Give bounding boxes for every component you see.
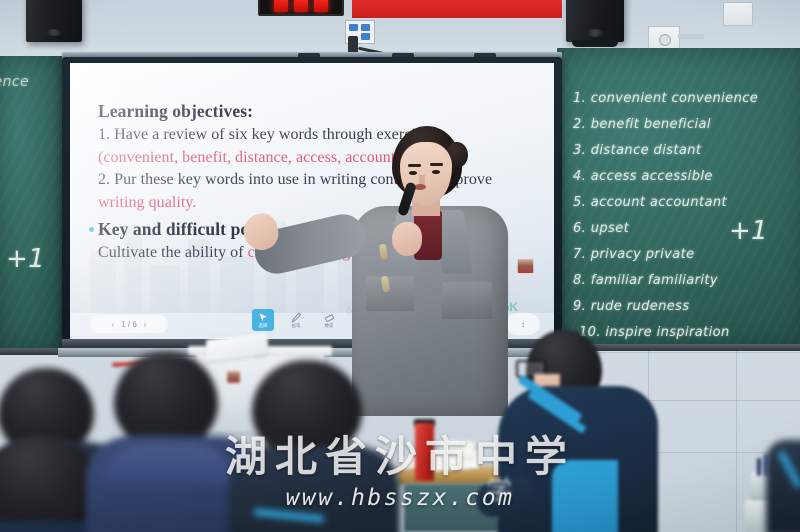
- student-head: [0, 436, 100, 532]
- speaker-cone: [46, 29, 62, 36]
- student-head: [114, 352, 218, 448]
- student-hood: [104, 444, 234, 484]
- chalk-line: 9. rude rudeness: [573, 300, 690, 313]
- socket-port[interactable]: [349, 24, 358, 31]
- student-center: [246, 360, 382, 532]
- teacher-eyebrow: [408, 164, 421, 167]
- teacher-eye: [409, 171, 417, 175]
- teacher-mic-hand: [392, 222, 422, 256]
- wall-tile-line: [736, 348, 737, 532]
- control-knob[interactable]: [659, 34, 671, 46]
- blackboard-left: nience ~ t +1 n: [0, 56, 62, 352]
- student-center-left: [96, 352, 246, 532]
- chalk-line: 4. access accessible: [573, 170, 713, 183]
- toolbar-label: 选择: [259, 324, 268, 329]
- chalk-line: 2. benefit beneficial: [573, 118, 711, 131]
- teacher-coat-pocket: [442, 282, 492, 319]
- wall-speaker-left: [26, 0, 82, 42]
- slide-page-nav[interactable]: ‹ 1 / 6 ›: [90, 315, 168, 333]
- chalk-line: 7. privacy private: [573, 248, 695, 261]
- blackboard-frame-left: [0, 348, 62, 355]
- wall-speaker-right: [566, 0, 624, 42]
- socket-port[interactable]: [361, 33, 370, 40]
- teacher-eye: [432, 170, 440, 174]
- teacher-eyebrow: [430, 163, 443, 166]
- classroom-led-clock: [258, 0, 344, 16]
- speaker-mount: [572, 40, 618, 47]
- teacher-coat-pocket: [366, 276, 414, 311]
- chalk-line: nience: [0, 74, 29, 90]
- chalk-mark-plus: +1: [729, 216, 768, 246]
- pen: [757, 458, 761, 476]
- chalk-mark: ~: [0, 124, 1, 142]
- socket-port[interactable]: [361, 24, 370, 31]
- chalk-mark-plus: +1: [6, 244, 45, 274]
- slide-heading-1: Learning objectives:: [98, 99, 548, 124]
- led-segment: [274, 0, 288, 12]
- wall-control-box-far-right[interactable]: [723, 2, 753, 26]
- red-thermos: [415, 423, 434, 481]
- classroom-photo: nience ~ t +1 n 1. convenient convenienc…: [0, 0, 800, 532]
- slide-speaker-thumbnail: [517, 259, 534, 274]
- chalk-line: 3. distance distant: [573, 144, 701, 157]
- led-segment: [314, 0, 328, 12]
- uniform-cyan-panel: [552, 460, 618, 532]
- chalk-line: 1. convenient convenience: [573, 92, 758, 105]
- next-page-icon[interactable]: ›: [144, 320, 147, 329]
- prev-page-icon[interactable]: ‹: [112, 320, 115, 329]
- chalk-line: 5. account accountant: [573, 196, 727, 209]
- wall-conduit: [678, 34, 704, 39]
- student-far-right: [766, 440, 800, 532]
- student-right-glasses: 学: [500, 330, 690, 532]
- led-segment: [294, 0, 308, 12]
- speaker-cone: [586, 29, 604, 37]
- bullet-icon: [89, 227, 94, 232]
- blackboard-right: 1. convenient convenience 2. benefit ben…: [557, 48, 800, 348]
- red-wall-banner: [352, 0, 562, 18]
- slide-line-4a: Cultivate the ability of: [98, 244, 248, 261]
- scroll-updown-icon[interactable]: ↕: [521, 320, 525, 329]
- toolbar-cursor-select-icon[interactable]: 选择: [252, 309, 274, 331]
- desk-paper: [439, 438, 474, 457]
- uniform-character: 学: [486, 470, 526, 494]
- student-head: [252, 360, 362, 456]
- chalk-line: 8. familiar familiarity: [573, 274, 718, 287]
- page-indicator: 1 / 6: [121, 320, 137, 329]
- chalk-line: 6. upset: [573, 222, 629, 235]
